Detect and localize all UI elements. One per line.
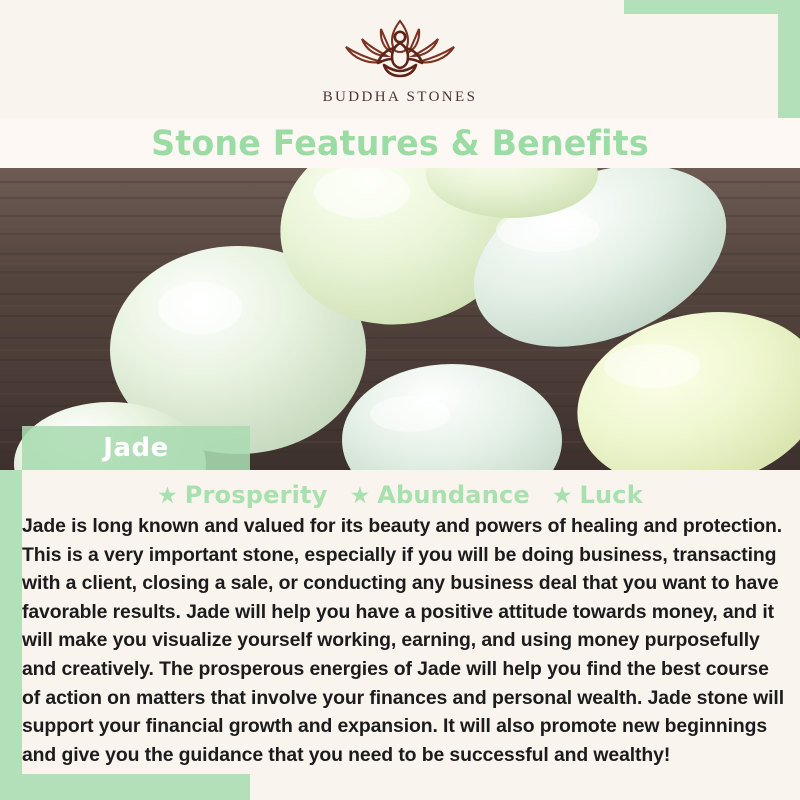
stone-name-label: Jade xyxy=(103,433,168,463)
star-icon: ★ xyxy=(350,484,371,507)
benefits-row: ★ Prosperity ★ Abundance ★ Luck xyxy=(0,478,800,512)
stone-caption-band: Jade xyxy=(22,426,250,470)
brand-name: BUDDHA STONES xyxy=(323,89,478,106)
benefit-label: Prosperity xyxy=(185,481,328,509)
star-icon: ★ xyxy=(552,484,573,507)
benefit-item: ★ Prosperity xyxy=(157,481,327,509)
benefit-item: ★ Abundance xyxy=(350,481,530,509)
stone-photo xyxy=(0,168,800,470)
benefit-item: ★ Luck xyxy=(552,481,643,509)
benefit-label: Luck xyxy=(580,481,643,509)
decor-bottom-bar xyxy=(0,774,250,800)
benefit-label: Abundance xyxy=(377,481,530,509)
star-icon: ★ xyxy=(157,484,178,507)
page-title: Stone Features & Benefits xyxy=(151,124,649,164)
poster-root: BUDDHA STONES Stone Features & Benefits xyxy=(0,0,800,800)
description-text: Jade is long known and valued for its be… xyxy=(22,512,786,769)
lotus-meditation-icon xyxy=(326,15,474,85)
title-band: Stone Features & Benefits xyxy=(0,118,800,170)
decor-left-lower-strip xyxy=(0,470,22,800)
brand-header: BUDDHA STONES xyxy=(0,0,800,120)
